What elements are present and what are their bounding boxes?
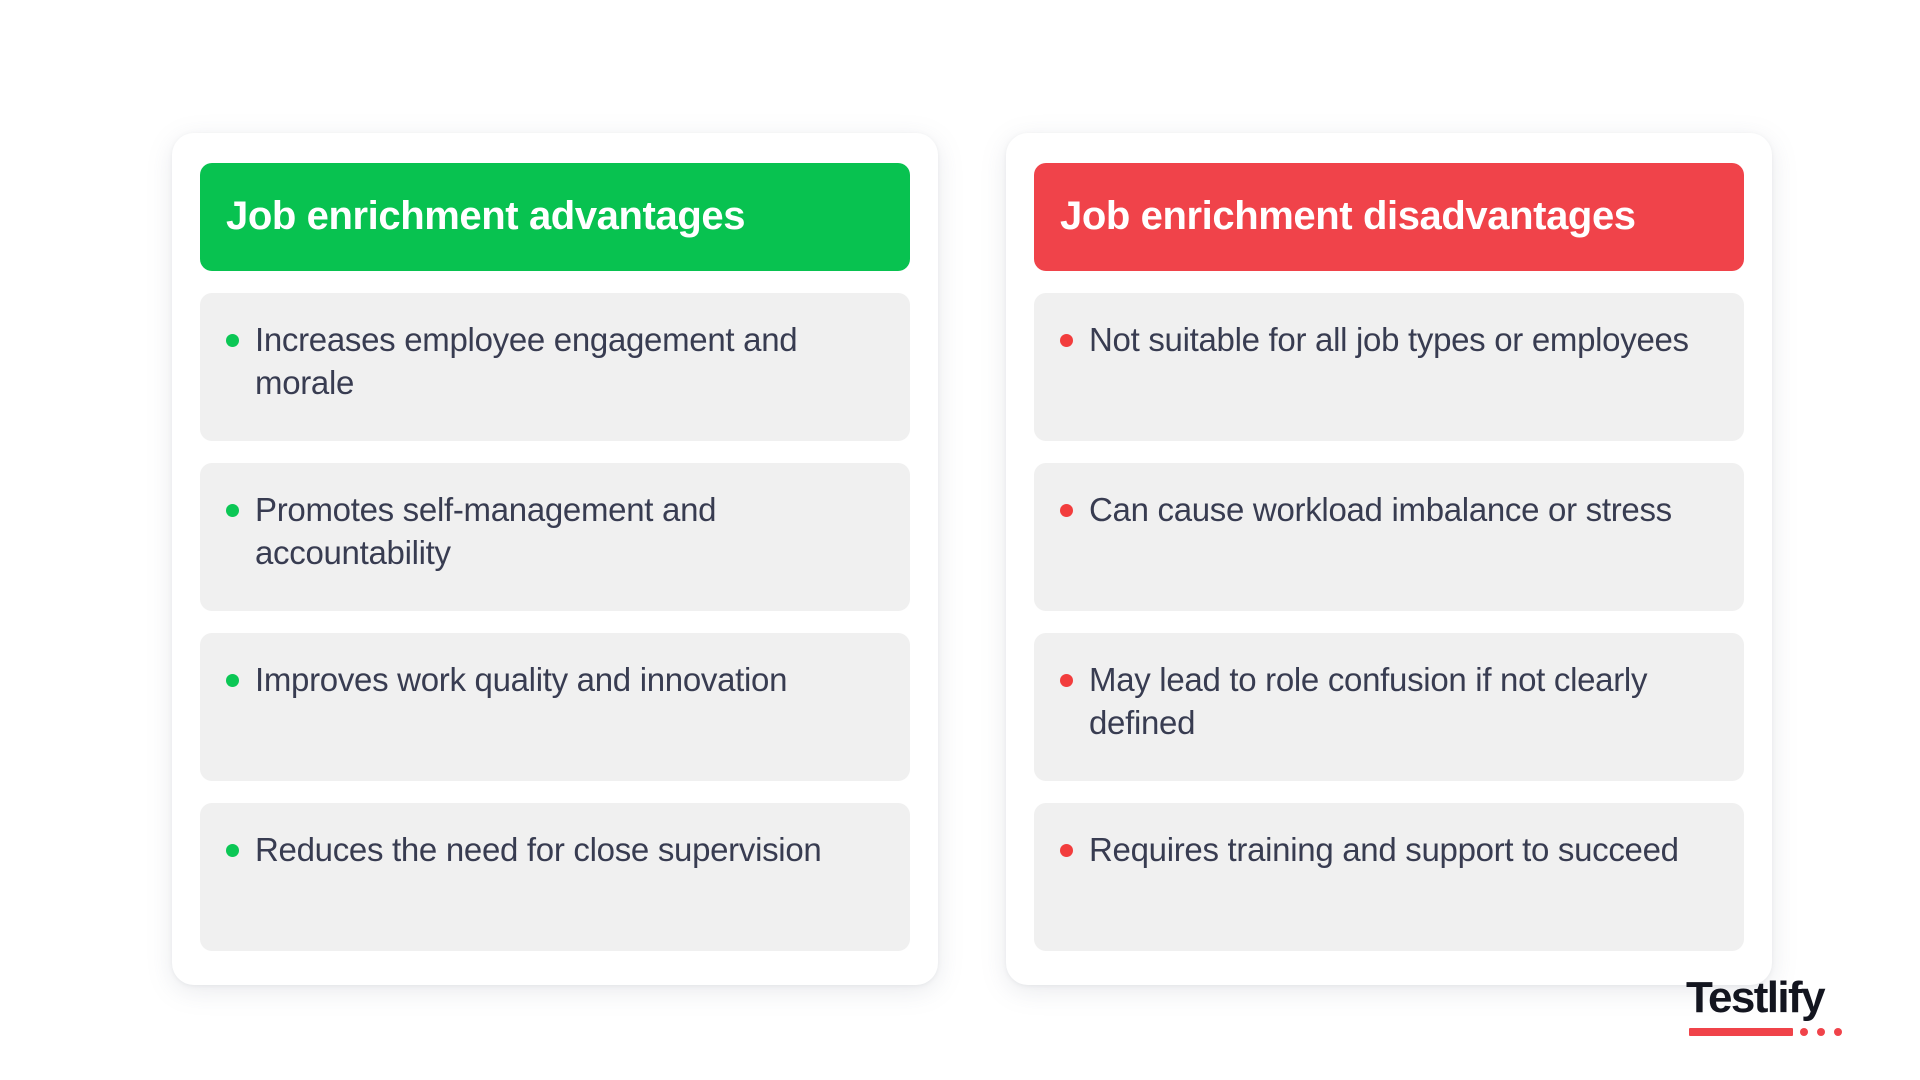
list-item-text: Reduces the need for close supervision: [255, 829, 821, 872]
advantages-header: Job enrichment advantages: [200, 163, 910, 271]
disadvantages-title: Job enrichment disadvantages: [1060, 194, 1636, 239]
comparison-columns: Job enrichment advantages Increases empl…: [172, 133, 1772, 985]
list-item: Can cause workload imbalance or stress: [1034, 463, 1744, 611]
list-item: Not suitable for all job types or employ…: [1034, 293, 1744, 441]
bullet-icon: [1060, 674, 1073, 687]
logo-wordmark: Testlify: [1686, 976, 1824, 1020]
infographic-page: Job enrichment advantages Increases empl…: [0, 0, 1920, 1080]
list-item: Improves work quality and innovation: [200, 633, 910, 781]
list-item: Reduces the need for close supervision: [200, 803, 910, 951]
list-item-text: Not suitable for all job types or employ…: [1089, 319, 1689, 362]
logo-dot-icon: [1800, 1028, 1808, 1036]
bullet-icon: [1060, 844, 1073, 857]
disadvantages-card: Job enrichment disadvantages Not suitabl…: [1006, 133, 1772, 985]
list-item: Promotes self-management and accountabil…: [200, 463, 910, 611]
list-item-text: Improves work quality and innovation: [255, 659, 787, 702]
list-item: May lead to role confusion if not clearl…: [1034, 633, 1744, 781]
advantages-card: Job enrichment advantages Increases empl…: [172, 133, 938, 985]
disadvantages-header: Job enrichment disadvantages: [1034, 163, 1744, 271]
bullet-icon: [226, 504, 239, 517]
list-item-text: May lead to role confusion if not clearl…: [1089, 659, 1718, 745]
bullet-icon: [226, 844, 239, 857]
advantages-list: Increases employee engagement and morale…: [200, 293, 910, 951]
list-item-text: Can cause workload imbalance or stress: [1089, 489, 1672, 532]
list-item: Increases employee engagement and morale: [200, 293, 910, 441]
bullet-icon: [226, 674, 239, 687]
testlify-logo: Testlify: [1686, 976, 1866, 1048]
advantages-title: Job enrichment advantages: [226, 194, 745, 239]
disadvantages-list: Not suitable for all job types or employ…: [1034, 293, 1744, 951]
bullet-icon: [226, 334, 239, 347]
logo-dot-icon: [1834, 1028, 1842, 1036]
list-item-text: Increases employee engagement and morale: [255, 319, 884, 405]
logo-underline-bar: [1689, 1028, 1793, 1036]
list-item: Requires training and support to succeed: [1034, 803, 1744, 951]
bullet-icon: [1060, 504, 1073, 517]
logo-dot-icon: [1817, 1028, 1825, 1036]
list-item-text: Promotes self-management and accountabil…: [255, 489, 884, 575]
logo-dots: [1800, 1028, 1842, 1036]
bullet-icon: [1060, 334, 1073, 347]
list-item-text: Requires training and support to succeed: [1089, 829, 1679, 872]
